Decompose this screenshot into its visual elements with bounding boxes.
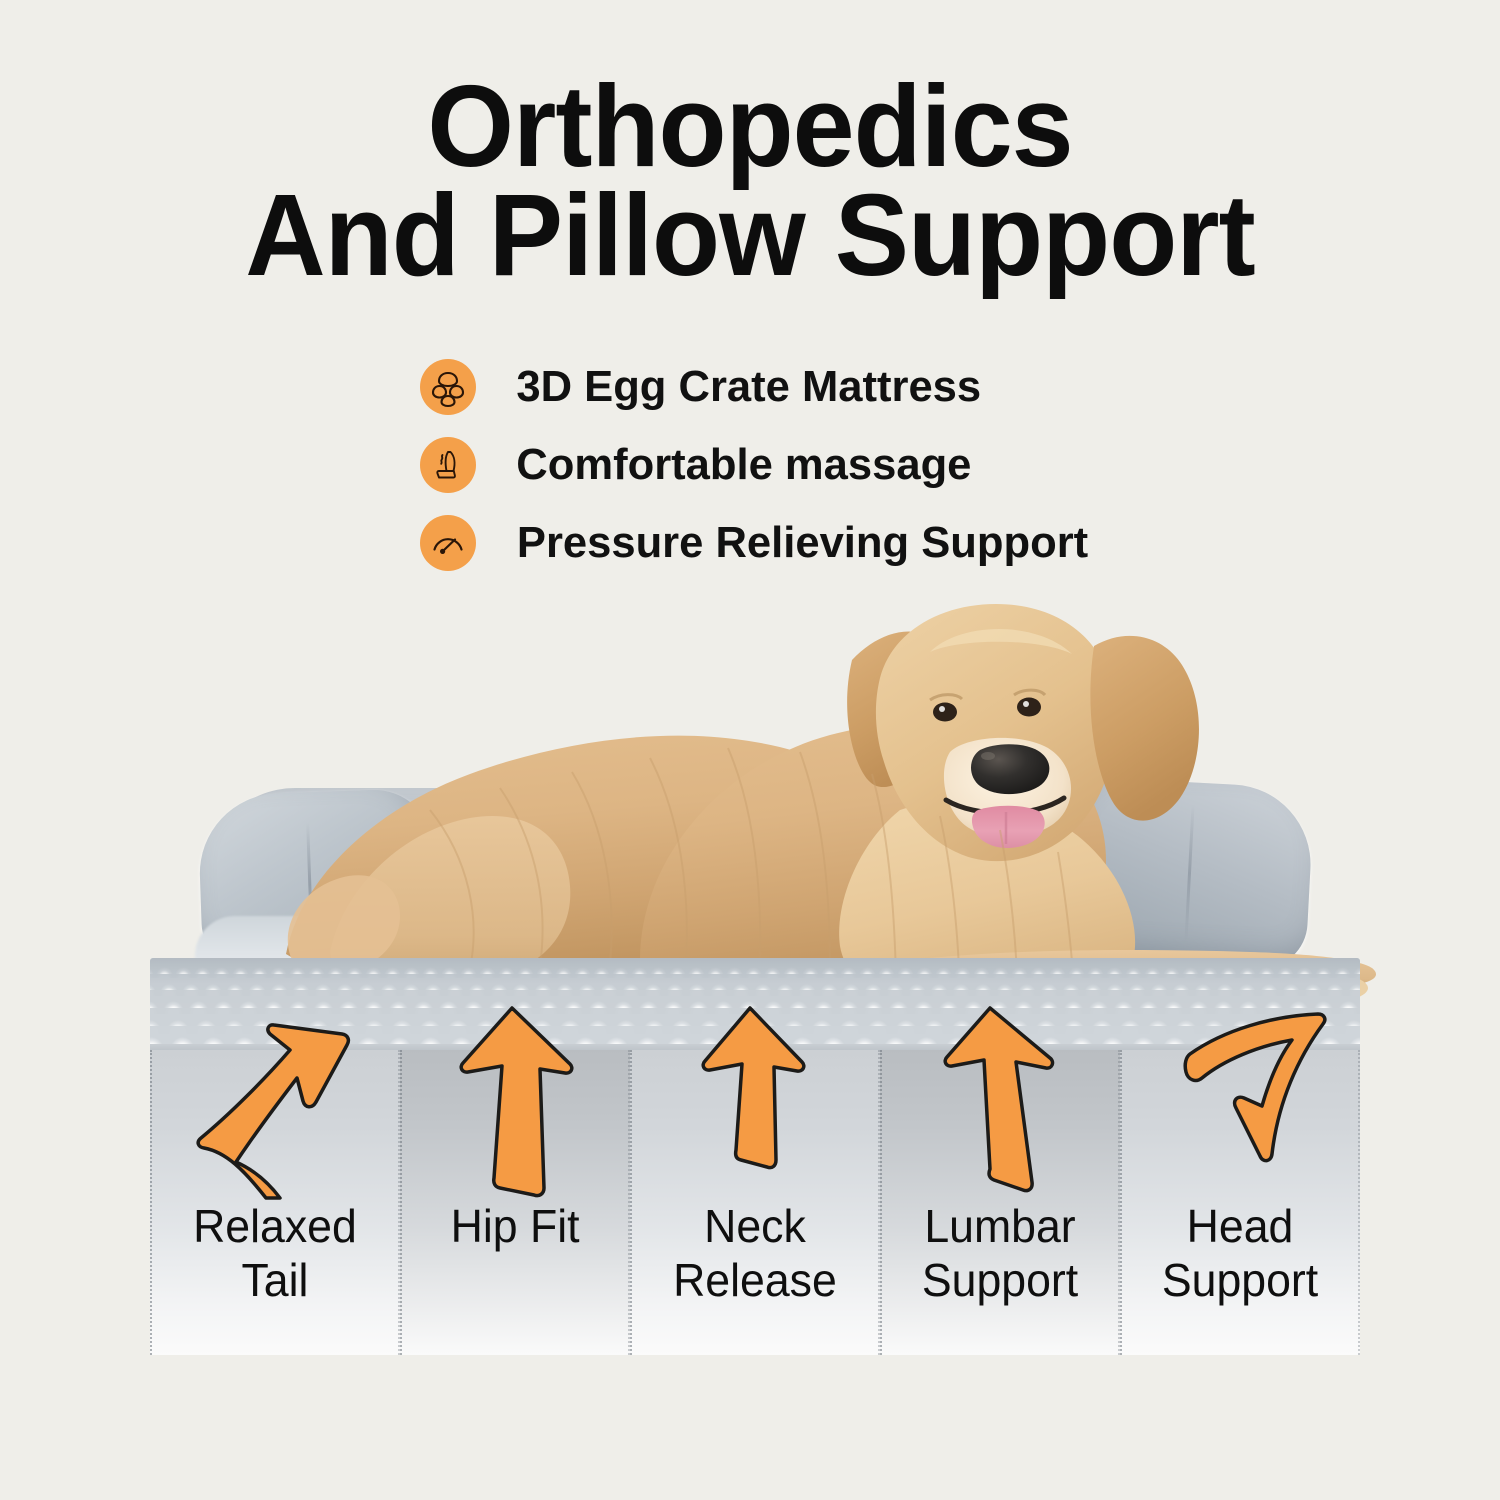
foam-top-shadow	[150, 958, 1360, 984]
feature-callout-panels: Relaxed Tail Hip Fit Neck Release	[150, 1050, 1360, 1355]
dog-nose	[971, 744, 1049, 794]
callout-panel-label: Head Support	[1126, 1200, 1355, 1308]
callout-panel-head-support: Head Support	[1120, 1050, 1360, 1355]
page-title-line-1: Orthopedics	[30, 72, 1470, 181]
feature-item-egg-crate: 3D Egg Crate Mattress	[420, 348, 1180, 426]
callout-panel-hip-fit: Hip Fit	[400, 1050, 630, 1355]
page-title: Orthopedics And Pillow Support	[0, 72, 1500, 290]
feature-label: 3D Egg Crate Mattress	[516, 362, 981, 412]
callout-panel-label: Relaxed Tail	[156, 1200, 394, 1308]
dog-ear-right	[1090, 636, 1199, 821]
callout-panel-relaxed-tail: Relaxed Tail	[150, 1050, 400, 1355]
callout-panel-label: Neck Release	[636, 1200, 874, 1308]
dog-eye-left	[933, 703, 957, 722]
callout-panel-neck-release: Neck Release	[630, 1050, 880, 1355]
dog-eye-highlight-left	[939, 706, 945, 712]
egg-crate-foam-slab	[150, 958, 1360, 1050]
callout-panel-lumbar-support: Lumbar Support	[880, 1050, 1120, 1355]
callout-panel-label: Hip Fit	[405, 1200, 624, 1254]
page-title-line-2: And Pillow Support	[30, 181, 1470, 290]
feature-label: Comfortable massage	[516, 440, 971, 490]
dog-eye-right	[1017, 698, 1041, 717]
dog-eye-highlight-right	[1023, 701, 1029, 707]
massage-seat-icon	[420, 437, 476, 493]
product-infographic: Orthopedics And Pillow Support 3D Egg Cr…	[0, 0, 1500, 1500]
egg-crate-icon	[420, 359, 476, 415]
callout-panel-label: Lumbar Support	[885, 1200, 1114, 1308]
feature-list: 3D Egg Crate Mattress Comfortable massag…	[420, 348, 1180, 582]
feature-item-massage: Comfortable massage	[420, 426, 1180, 504]
